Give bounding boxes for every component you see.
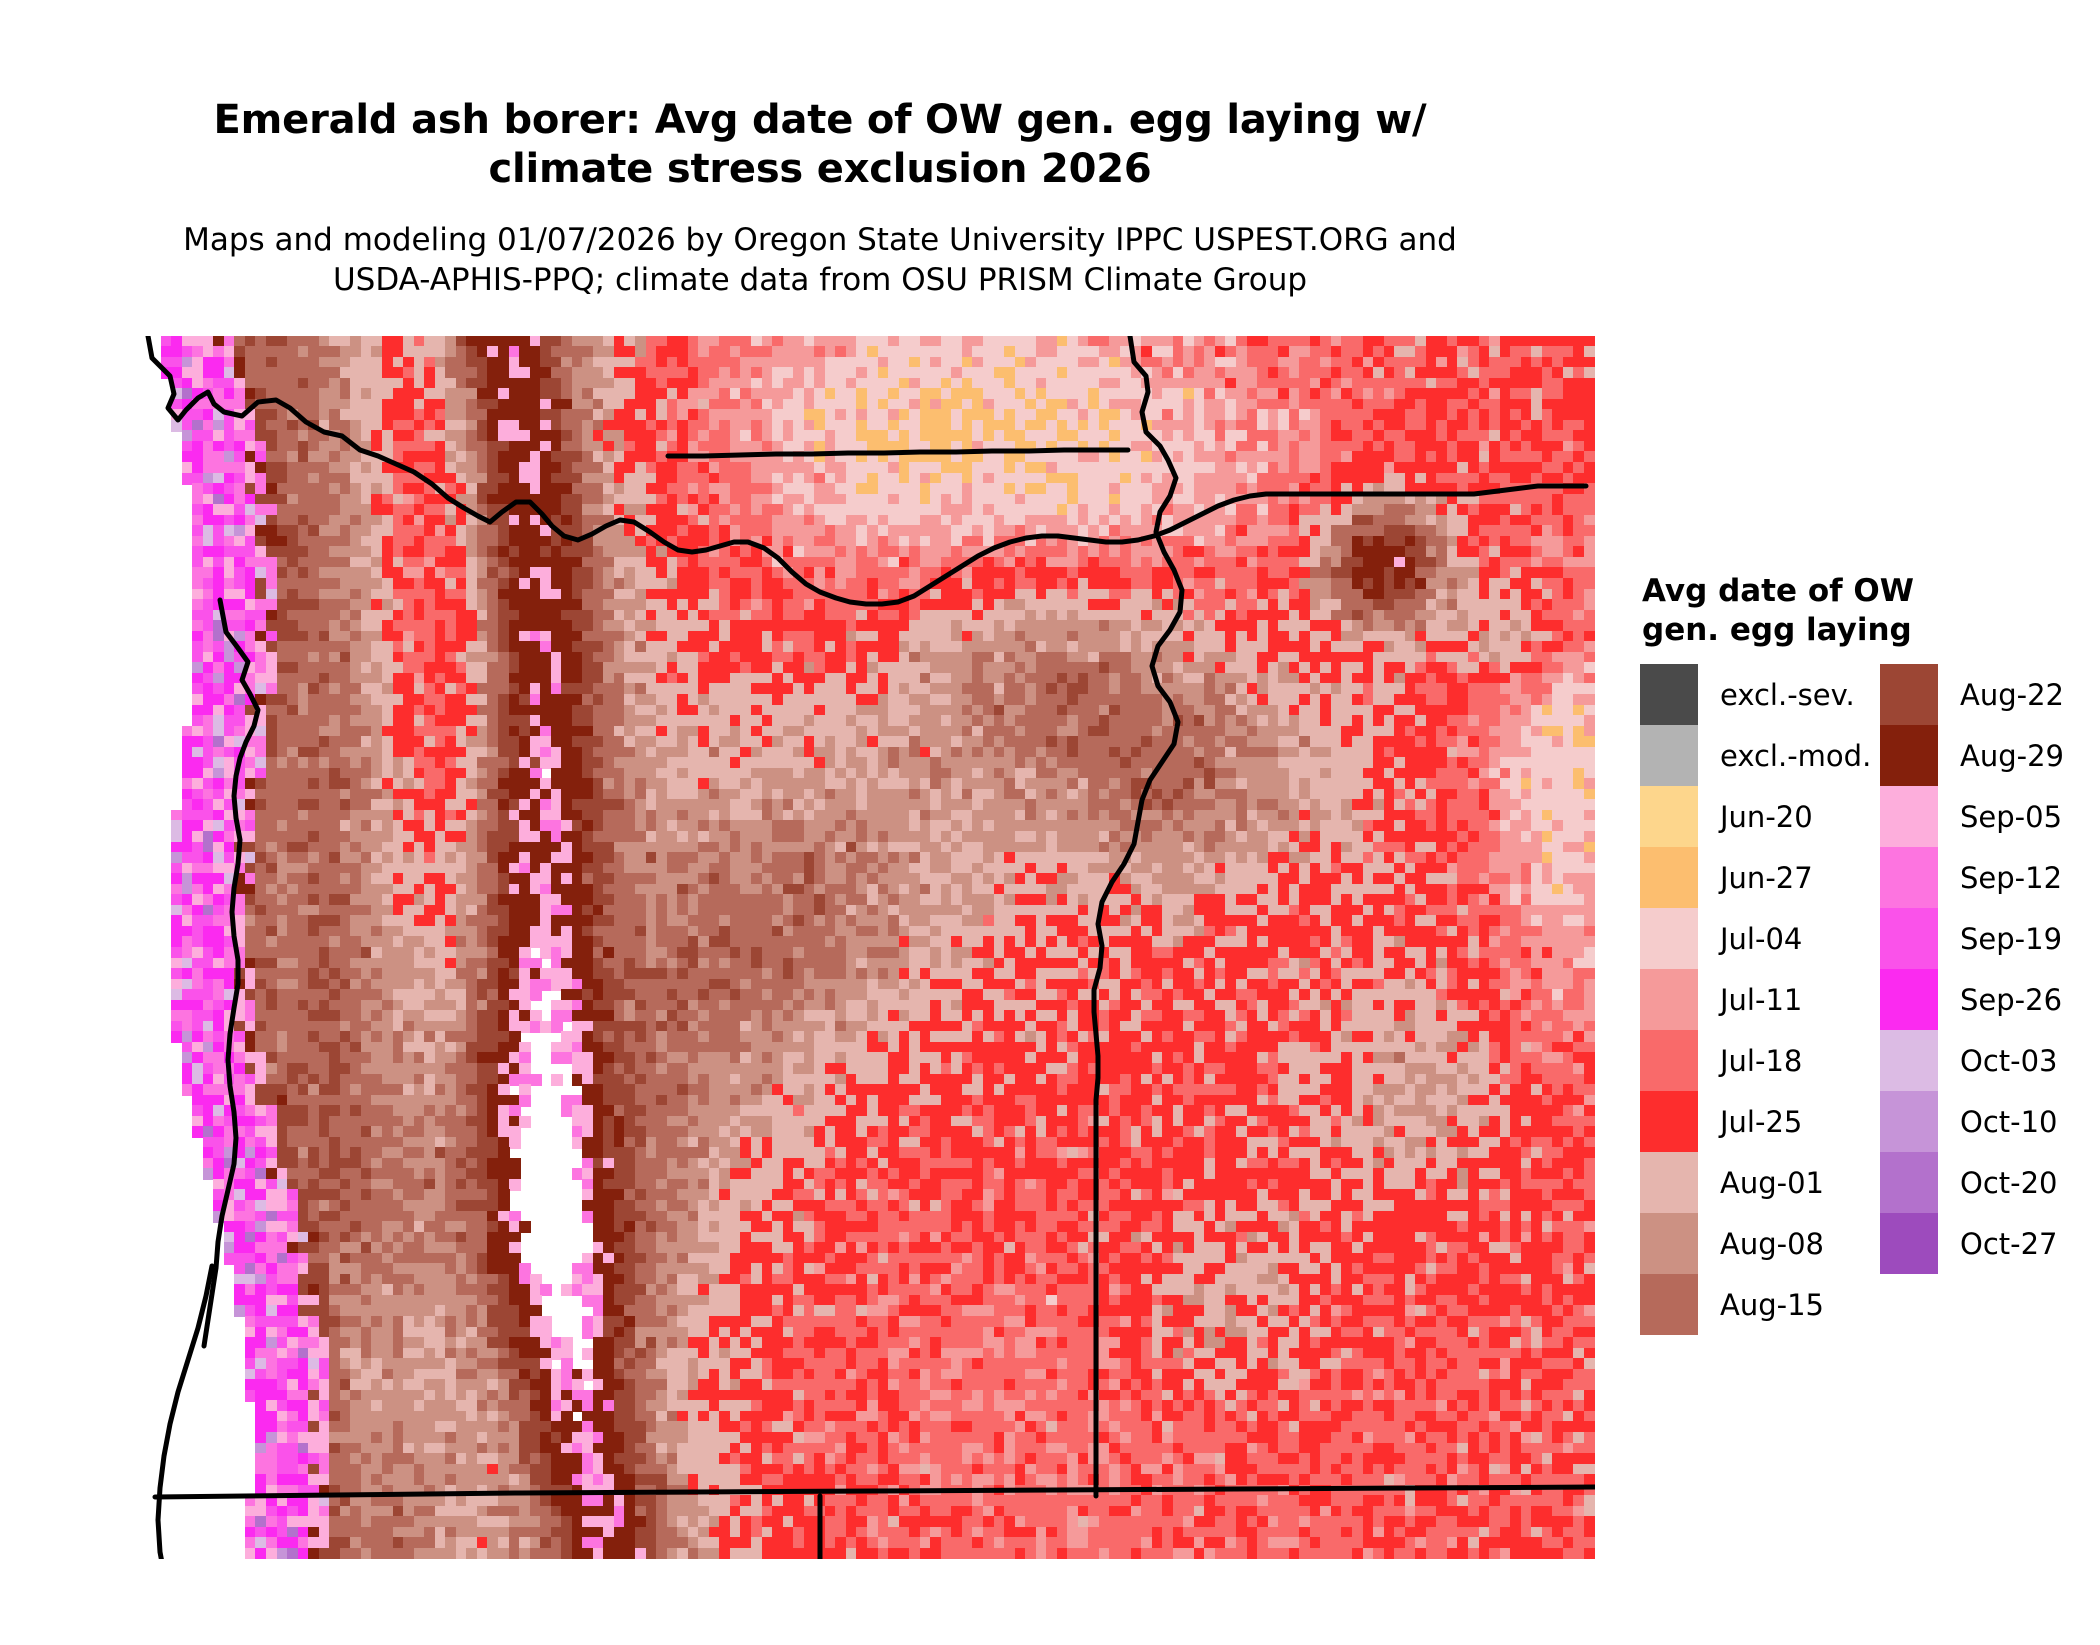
legend-row: Aug-29 [1880, 725, 2064, 786]
legend-color-swatch [1640, 1274, 1698, 1335]
legend-row: Jun-20 [1640, 786, 1871, 847]
page-title: Emerald ash borer: Avg date of OW gen. e… [185, 96, 1455, 194]
legend-row: excl.-mod. [1640, 725, 1871, 786]
legend-label: Oct-10 [1960, 1105, 2058, 1139]
legend-label: Aug-22 [1960, 678, 2064, 712]
legend-color-swatch [1880, 847, 1938, 908]
legend-row: Aug-01 [1640, 1152, 1871, 1213]
legend-color-swatch [1640, 1213, 1698, 1274]
legend-color-swatch [1880, 786, 1938, 847]
legend-color-swatch [1880, 1030, 1938, 1091]
legend-row: excl.-sev. [1640, 664, 1871, 725]
legend-label: Jun-20 [1720, 800, 1813, 834]
legend-column-right: Aug-22Aug-29Sep-05Sep-12Sep-19Sep-26Oct-… [1880, 664, 2064, 1274]
legend-row: Oct-10 [1880, 1091, 2064, 1152]
legend-color-swatch [1880, 1091, 1938, 1152]
legend-label: Aug-08 [1720, 1227, 1824, 1261]
legend-columns: excl.-sev.excl.-mod.Jun-20Jun-27Jul-04Ju… [1640, 664, 2070, 1354]
legend-label: excl.-sev. [1720, 678, 1855, 712]
legend-row: Sep-12 [1880, 847, 2064, 908]
legend-label: Sep-05 [1960, 800, 2062, 834]
title-block: Emerald ash borer: Avg date of OW gen. e… [0, 0, 1640, 300]
legend-row: Sep-19 [1880, 908, 2064, 969]
legend-label: Aug-15 [1720, 1288, 1824, 1322]
legend-color-swatch [1880, 1152, 1938, 1213]
page-subtitle: Maps and modeling 01/07/2026 by Oregon S… [170, 220, 1470, 301]
legend-color-swatch [1640, 786, 1698, 847]
legend-row: Aug-15 [1640, 1274, 1871, 1335]
raster-heatmap-canvas[interactable] [140, 336, 1595, 1559]
legend-color-swatch [1640, 1030, 1698, 1091]
legend-label: Aug-29 [1960, 739, 2064, 773]
legend-label: Jun-27 [1720, 861, 1813, 895]
legend-row: Oct-03 [1880, 1030, 2064, 1091]
legend-color-swatch [1880, 725, 1938, 786]
legend-color-swatch [1640, 908, 1698, 969]
map-legend: Avg date of OW gen. egg laying excl.-sev… [1640, 572, 2070, 1354]
legend-label: Sep-26 [1960, 983, 2062, 1017]
legend-row: Oct-27 [1880, 1213, 2064, 1274]
legend-color-swatch [1640, 725, 1698, 786]
legend-row: Jul-25 [1640, 1091, 1871, 1152]
legend-label: Sep-12 [1960, 861, 2062, 895]
legend-row: Jul-11 [1640, 969, 1871, 1030]
legend-row: Jul-18 [1640, 1030, 1871, 1091]
legend-row: Jul-04 [1640, 908, 1871, 969]
legend-row: Jun-27 [1640, 847, 1871, 908]
legend-column-left: excl.-sev.excl.-mod.Jun-20Jun-27Jul-04Ju… [1640, 664, 1871, 1335]
legend-row: Sep-05 [1880, 786, 2064, 847]
legend-row: Aug-22 [1880, 664, 2064, 725]
legend-label: Jul-11 [1720, 983, 1802, 1017]
legend-label: Jul-25 [1720, 1105, 1802, 1139]
legend-label: Oct-20 [1960, 1166, 2058, 1200]
legend-label: Jul-04 [1720, 922, 1802, 956]
legend-color-swatch [1880, 969, 1938, 1030]
legend-color-swatch [1880, 1213, 1938, 1274]
legend-row: Aug-08 [1640, 1213, 1871, 1274]
legend-label: Aug-01 [1720, 1166, 1824, 1200]
legend-color-swatch [1640, 847, 1698, 908]
legend-color-swatch [1640, 1152, 1698, 1213]
legend-color-swatch [1640, 1091, 1698, 1152]
legend-label: Sep-19 [1960, 922, 2062, 956]
legend-color-swatch [1880, 664, 1938, 725]
legend-label: Jul-18 [1720, 1044, 1802, 1078]
legend-title: Avg date of OW gen. egg laying [1642, 572, 2070, 650]
legend-color-swatch [1640, 664, 1698, 725]
legend-color-swatch [1880, 908, 1938, 969]
climate-map[interactable] [140, 336, 1595, 1559]
legend-label: excl.-mod. [1720, 739, 1871, 773]
legend-color-swatch [1640, 969, 1698, 1030]
legend-row: Sep-26 [1880, 969, 2064, 1030]
legend-label: Oct-03 [1960, 1044, 2058, 1078]
legend-row: Oct-20 [1880, 1152, 2064, 1213]
legend-label: Oct-27 [1960, 1227, 2058, 1261]
